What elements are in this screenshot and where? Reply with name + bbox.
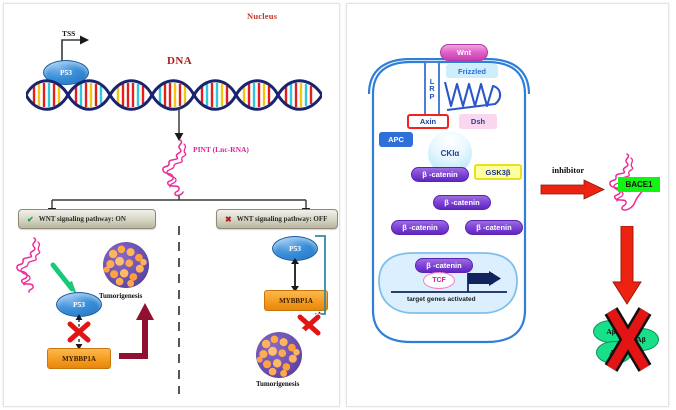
lrp-receptor-node: L R P bbox=[424, 61, 440, 117]
panel-left-p53-pint-pathway: Nucleus TSS DNA PINT (Lnc-RNA) P53 bbox=[3, 3, 340, 407]
tumorsphere-right bbox=[256, 332, 302, 378]
inhibitor-label: inhibitor bbox=[552, 166, 584, 175]
bace1-node: BACE1 bbox=[618, 177, 660, 192]
apc-node: APC bbox=[379, 132, 413, 147]
nucleus-label: Nucleus bbox=[247, 12, 277, 21]
complex-bracket-icon bbox=[314, 234, 330, 316]
tumorsphere-left bbox=[103, 242, 149, 288]
inhibitor-arrow-icon bbox=[540, 179, 606, 201]
cross-icon: ✖ bbox=[225, 215, 232, 224]
wnt-ligand-node: Wnt bbox=[440, 44, 488, 61]
tumorigenesis-label-right: Tumorigenesis bbox=[256, 381, 299, 388]
check-icon: ✔ bbox=[27, 215, 34, 224]
figure-container: Nucleus TSS DNA PINT (Lnc-RNA) P53 bbox=[0, 0, 676, 410]
beta-catenin-node-3: β -catenin bbox=[391, 220, 449, 235]
panel-right-wnt-bace1-pathway: Wnt L R P Frizzled Axin Dsh APC CKIα GSK… bbox=[346, 3, 669, 407]
wnt-pathway-on-box: ✔ WNT signaling pathway: ON bbox=[18, 209, 156, 229]
dsh-node: Dsh bbox=[459, 114, 497, 129]
abeta-blocked-cross-icon bbox=[600, 306, 656, 374]
abeta-production-arrow-icon bbox=[610, 226, 644, 306]
panel-divider-dashed bbox=[176, 226, 182, 394]
target-gene-promoter-icon bbox=[389, 270, 511, 296]
tumorigenesis-label-left: Tumorigenesis bbox=[99, 293, 142, 300]
beta-catenin-node-1: β -catenin bbox=[411, 167, 469, 182]
beta-catenin-node-4: β -catenin bbox=[465, 220, 523, 235]
dna-double-helix-icon bbox=[26, 78, 322, 112]
pint-lncrna-icon bbox=[154, 138, 202, 198]
p53-mybbp1a-binding-arrow bbox=[286, 258, 304, 292]
mybbp1a-node-on-branch: MYBBP1A bbox=[47, 348, 111, 369]
axin-node: Axin bbox=[407, 114, 449, 129]
wnt-pathway-on-label: WNT signaling pathway: ON bbox=[39, 215, 126, 223]
dna-label: DNA bbox=[167, 56, 192, 67]
beta-catenin-node-2: β -catenin bbox=[433, 195, 491, 210]
gsk3b-node: GSK3β bbox=[474, 164, 522, 180]
blocked-cross-icon-left bbox=[64, 319, 94, 345]
lrp-letter-p: P bbox=[429, 93, 434, 101]
wnt-pathway-off-box: ✖ WNT signaling pathway: OFF bbox=[216, 209, 338, 229]
transcription-arrow-icon bbox=[172, 108, 186, 142]
inhibition-elbow-arrow-icon bbox=[114, 300, 156, 362]
target-genes-activated-label: target genes activated bbox=[407, 296, 476, 303]
wnt-pathway-off-label: WNT signaling pathway: OFF bbox=[237, 215, 328, 223]
